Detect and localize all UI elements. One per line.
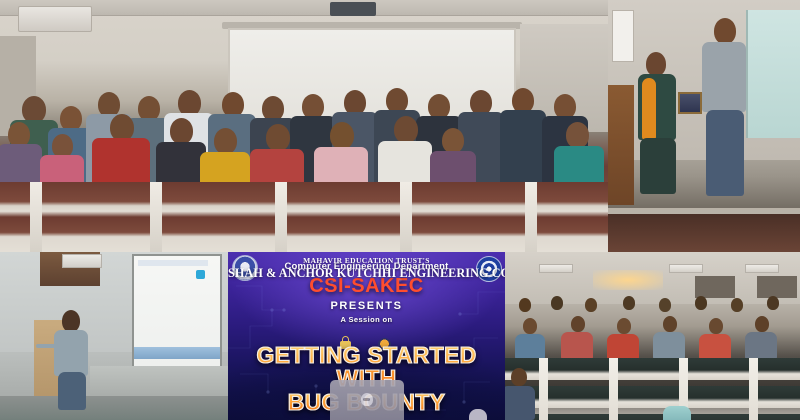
audience-photo-panel: Audience of students seated in the tiere… xyxy=(505,252,800,420)
wall-board xyxy=(695,276,735,298)
ceiling-light-glow xyxy=(593,270,663,290)
group-of-people xyxy=(0,54,608,188)
screen-taskbar xyxy=(134,347,220,359)
wooden-door xyxy=(608,85,634,205)
wall-board xyxy=(757,276,797,298)
wall-ac-unit xyxy=(745,264,779,273)
event-poster-panel: MAHAVIR EDUCATION TRUST'S SHAH & ANCHOR … xyxy=(228,252,505,420)
lecture-hall-benches xyxy=(0,182,608,252)
audience-seating xyxy=(505,334,800,420)
front-desk xyxy=(608,214,800,252)
wall-ac-unit xyxy=(669,264,703,273)
memento-photo-panel: Faculty member presenting a memento to t… xyxy=(608,0,800,252)
speaker-photo-panel: Speaker presenting at the podium beside … xyxy=(0,252,228,420)
memento-plaque xyxy=(678,92,702,114)
group-photo-panel: Group photograph of students and faculty… xyxy=(0,0,608,252)
poster-header: MAHAVIR EDUCATION TRUST'S SHAH & ANCHOR … xyxy=(228,256,505,281)
backpack xyxy=(663,406,691,420)
photo-collage: Group photograph of students and faculty… xyxy=(0,0,800,420)
ceiling-projector xyxy=(330,2,376,16)
wall-air-conditioner xyxy=(62,254,102,268)
air-conditioner xyxy=(18,6,92,32)
college-name: SHAH & ANCHOR KUTCHHI ENGINEERING COLLEG… xyxy=(228,266,505,281)
wall-wainscot xyxy=(90,366,228,398)
stage-dais xyxy=(0,396,228,420)
projection-screen xyxy=(746,10,800,138)
trust-name: MAHAVIR EDUCATION TRUST'S xyxy=(228,256,505,265)
laptop-skull-icon xyxy=(330,380,404,420)
computer-mouse-icon xyxy=(469,409,487,420)
notice-sheet xyxy=(612,10,634,62)
wall-ac-unit xyxy=(539,264,573,273)
